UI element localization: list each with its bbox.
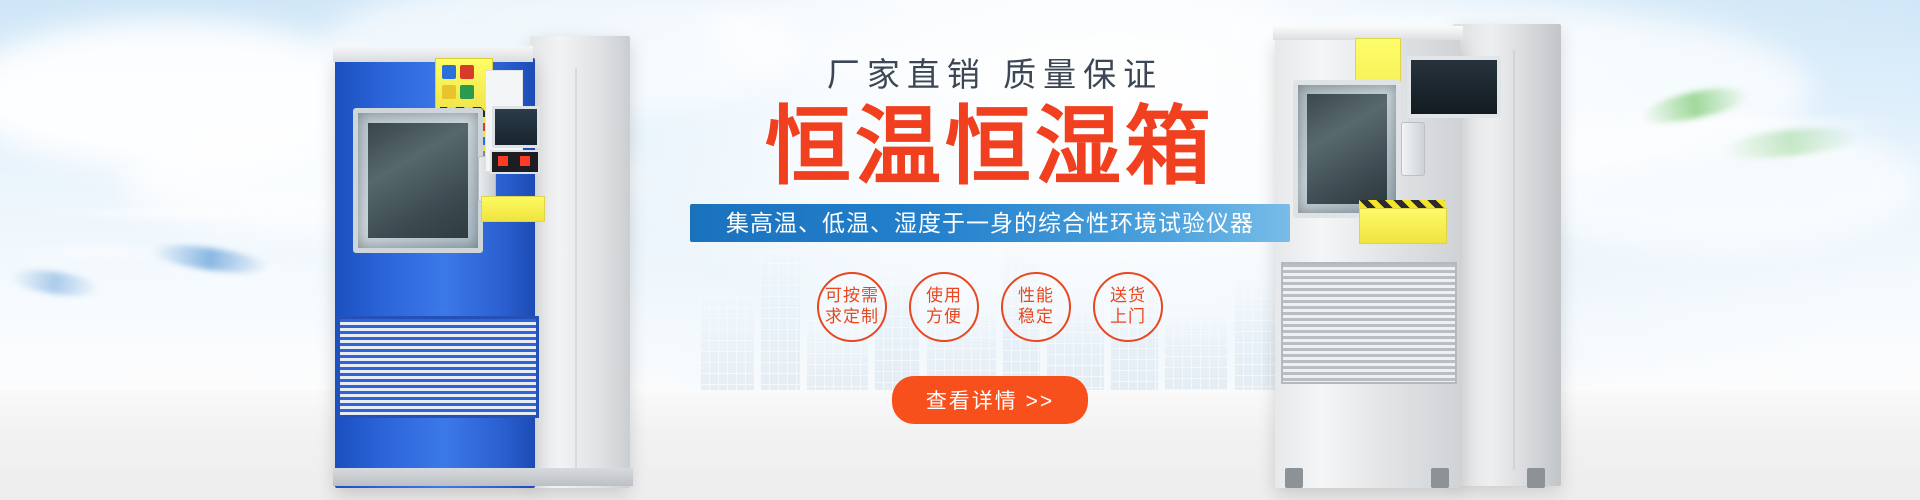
view-details-button[interactable]: 查看详情 >> bbox=[892, 376, 1088, 424]
feature-badge[interactable]: 送货 上门 bbox=[1093, 272, 1163, 342]
green-leaf-decoration bbox=[1719, 123, 1861, 163]
panel-seam bbox=[575, 68, 577, 478]
chamber-foot bbox=[1285, 468, 1303, 488]
cta-container: 查看详情 >> bbox=[690, 376, 1290, 424]
chamber-door-window bbox=[368, 123, 468, 238]
chamber-indicator-leds bbox=[490, 150, 540, 174]
feature-badge[interactable]: 可按需 求定制 bbox=[817, 272, 887, 342]
feature-badge-line2: 求定制 bbox=[825, 307, 879, 328]
feature-badge-line1: 性能 bbox=[1018, 286, 1054, 307]
chamber-side-panel bbox=[530, 36, 630, 488]
product-image-blue-chamber bbox=[285, 28, 635, 488]
chamber-door bbox=[1293, 80, 1401, 218]
chamber-yellow-caution-label bbox=[1359, 208, 1447, 244]
feature-badge[interactable]: 使用 方便 bbox=[909, 272, 979, 342]
feature-badge-line2: 上门 bbox=[1110, 307, 1146, 328]
banner-text-block: 厂家直销 质量保证 恒温恒湿箱 集高温、低温、湿度于一身的综合性环境试验仪器 可… bbox=[690, 48, 1290, 424]
chamber-ventilation-grille bbox=[337, 316, 539, 418]
chamber-door bbox=[353, 108, 483, 253]
hazard-stripe bbox=[1359, 200, 1445, 208]
feature-badge-list: 可按需 求定制 使用 方便 性能 稳定 送货 上门 bbox=[690, 272, 1290, 342]
chamber-yellow-caution-label bbox=[481, 196, 545, 222]
chamber-foot bbox=[1527, 468, 1545, 488]
chamber-ventilation-grille bbox=[1281, 262, 1457, 384]
product-hero-banner: 厂家直销 质量保证 恒温恒湿箱 集高温、低温、湿度于一身的综合性环境试验仪器 可… bbox=[0, 0, 1920, 500]
chamber-touch-controller bbox=[1407, 56, 1501, 118]
feature-badge-line1: 可按需 bbox=[825, 286, 879, 307]
chamber-top-panel bbox=[333, 46, 533, 62]
panel-seam bbox=[1513, 50, 1515, 470]
wind-streak-decoration bbox=[30, 210, 310, 216]
banner-tagline: 厂家直销 质量保证 bbox=[700, 48, 1290, 96]
chamber-door-handle bbox=[1401, 122, 1425, 176]
chamber-foot bbox=[1431, 468, 1449, 488]
banner-subtitle: 集高温、低温、湿度于一身的综合性环境试验仪器 bbox=[690, 204, 1290, 242]
feature-badge[interactable]: 性能 稳定 bbox=[1001, 272, 1071, 342]
chamber-door-window bbox=[1307, 94, 1387, 204]
feature-badge-line2: 方便 bbox=[926, 307, 962, 328]
chamber-touch-controller bbox=[492, 106, 540, 148]
chamber-base bbox=[333, 468, 633, 486]
feature-badge-line2: 稳定 bbox=[1018, 307, 1054, 328]
feature-badge-line1: 送货 bbox=[1110, 286, 1146, 307]
blue-leaf-decoration bbox=[9, 266, 101, 300]
banner-title: 恒温恒湿箱 bbox=[690, 104, 1290, 192]
feature-badge-line1: 使用 bbox=[926, 286, 962, 307]
product-image-gray-chamber bbox=[1255, 10, 1585, 490]
